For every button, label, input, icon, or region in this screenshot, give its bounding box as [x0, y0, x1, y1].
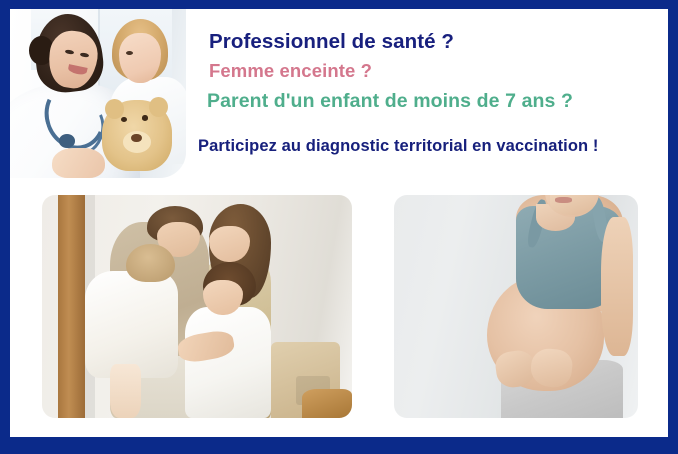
headline-line-health-professional: Professionnel de santé ?: [209, 30, 678, 54]
stethoscope-bell: [59, 134, 75, 148]
pregnant-woman-photo: [394, 195, 638, 418]
lips: [555, 197, 572, 203]
baby-leg: [110, 364, 141, 418]
baby-body: [85, 271, 178, 378]
mother-face: [209, 226, 249, 262]
headline-block: Professionnel de santé ? Femme enceinte …: [196, 30, 678, 157]
boy-body: [185, 307, 272, 419]
right-arm: [601, 217, 633, 355]
baby-hair: [126, 244, 176, 282]
doctor-child-photo: [10, 9, 186, 178]
headline-line-pregnant-woman: Femme enceinte ?: [209, 59, 678, 83]
headline-line-parent-young-child: Parent d'un enfant de moins de 7 ans ?: [207, 89, 678, 113]
wicker-basket: [302, 389, 352, 418]
teddy-ear-left: [105, 99, 124, 119]
family-photo: [42, 195, 352, 418]
teddy-eye-right: [142, 115, 148, 120]
headline-call-to-action: Participez au diagnostic territorial en …: [198, 135, 678, 157]
wooden-door-frame: [58, 195, 86, 418]
doctor-arm: [52, 148, 105, 178]
vaccination-poster: Professionnel de santé ? Femme enceinte …: [0, 0, 678, 454]
